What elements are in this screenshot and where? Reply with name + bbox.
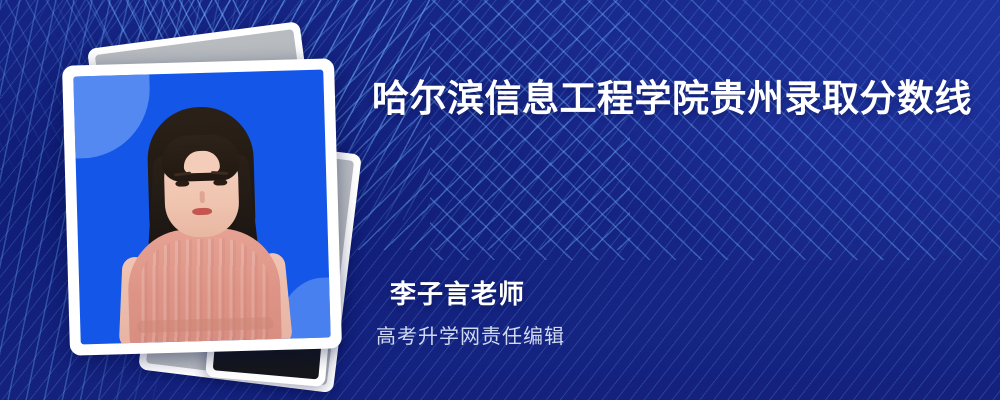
page-title: 哈尔滨信息工程学院贵州录取分数线 — [372, 72, 972, 127]
portrait-nose — [200, 191, 205, 203]
photo-card-stack — [60, 34, 360, 364]
author-role: 高考升学网责任编辑 — [376, 320, 565, 349]
portrait-dress — [127, 227, 282, 345]
portrait-eye-left — [175, 180, 189, 186]
author-name: 李子言老师 — [390, 274, 525, 311]
text-block: 哈尔滨信息工程学院贵州录取分数线 李子言老师 高考升学网责任编辑 — [372, 0, 984, 400]
portrait-eye-right — [213, 179, 227, 185]
portrait-figure — [73, 70, 330, 345]
portrait-mouth — [192, 208, 212, 216]
portrait-hair-fringe — [161, 134, 240, 182]
portrait-photo — [73, 70, 330, 345]
front-photo-card — [62, 58, 342, 355]
banner-root: 哈尔滨信息工程学院贵州录取分数线 李子言老师 高考升学网责任编辑 — [0, 0, 1000, 400]
